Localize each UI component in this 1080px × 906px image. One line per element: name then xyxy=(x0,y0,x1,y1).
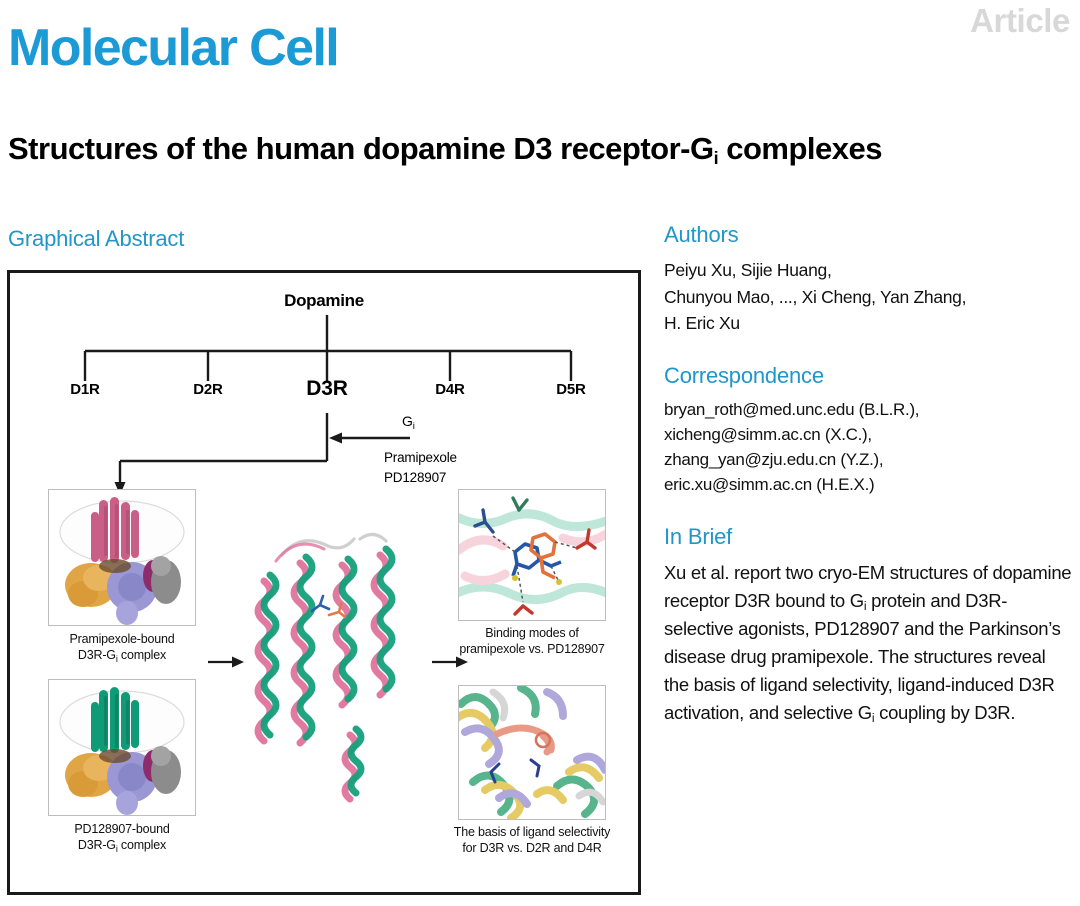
caption-pramipexole-complex: Pramipexole-bound D3R-Gi complex xyxy=(20,631,224,664)
correspondence-body: bryan_roth@med.unc.edu (B.L.R.), xicheng… xyxy=(664,398,1072,498)
panel-pd128907-complex xyxy=(48,679,196,816)
cryoem-map-pd128907 xyxy=(49,680,195,815)
caption-ligand-selectivity: The basis of ligand selectivity for D3R … xyxy=(420,824,644,857)
gi-subscript: i xyxy=(413,421,415,432)
panel-pramipexole-complex xyxy=(48,489,196,626)
correspondence-email-4[interactable]: eric.xu@simm.ac.cn (H.E.X.) xyxy=(664,475,874,494)
correspondence-email-2[interactable]: xicheng@simm.ac.cn (X.C.), xyxy=(664,425,872,444)
journal-logo: Molecular Cell xyxy=(8,22,338,74)
graphical-abstract-heading: Graphical Abstract xyxy=(8,226,184,252)
in-brief-body: Xu et al. report two cryo-EM structures … xyxy=(664,559,1072,728)
title-subscript: i xyxy=(714,148,719,168)
cryoem-map-pramipexole xyxy=(49,490,195,625)
graphical-abstract-box: Dopamine D1R D2R D3R D4R D5R Gi Pramipex… xyxy=(7,270,641,895)
panel-superposed-structures xyxy=(242,503,432,833)
correspondence-heading: Correspondence xyxy=(664,363,1072,389)
caption-line-2: for D3R vs. D2R and D4R xyxy=(462,841,601,855)
caption-line-2-sub: i xyxy=(116,844,118,854)
authors-line-2: Chunyou Mao, ..., Xi Cheng, Yan Zhang, xyxy=(664,287,966,307)
ligand-pramipexole-label: Pramipexole xyxy=(384,449,457,467)
caption-line-2-pre: D3R-G xyxy=(78,648,116,662)
caption-line-2-post: complex xyxy=(118,838,166,852)
panel-binding-modes xyxy=(458,489,606,621)
correspondence-section: Correspondence bryan_roth@med.unc.edu (B… xyxy=(664,363,1072,498)
caption-line-2-sub: i xyxy=(116,654,118,664)
gi-protein-label: Gi xyxy=(402,413,415,429)
page-title: Structures of the human dopamine D3 rece… xyxy=(8,129,1063,169)
caption-line-1: Pramipexole-bound xyxy=(70,632,175,646)
gi-letter: G xyxy=(402,413,413,429)
caption-line-2: pramipexole vs. PD128907 xyxy=(459,642,604,656)
tree-node-d1r: D1R xyxy=(55,381,115,398)
flow-arrow-left xyxy=(206,651,246,673)
authors-line-3: H. Eric Xu xyxy=(664,313,740,333)
caption-line-1: Binding modes of xyxy=(485,626,578,640)
right-column: Authors Peiyu Xu, Sijie Huang, Chunyou M… xyxy=(664,222,1072,753)
authors-line-1: Peiyu Xu, Sijie Huang, xyxy=(664,260,832,280)
authors-heading: Authors xyxy=(664,222,1072,248)
ribbon-overlay-diagram xyxy=(242,503,432,833)
caption-binding-modes: Binding modes of pramipexole vs. PD12890… xyxy=(428,625,636,658)
authors-section: Authors Peiyu Xu, Sijie Huang, Chunyou M… xyxy=(664,222,1072,337)
in-brief-section: In Brief Xu et al. report two cryo-EM st… xyxy=(664,524,1072,728)
selectivity-diagram xyxy=(459,686,605,819)
caption-line-2-post: complex xyxy=(118,648,166,662)
tree-node-d2r: D2R xyxy=(178,381,238,398)
correspondence-email-3[interactable]: zhang_yan@zju.edu.cn (Y.Z.), xyxy=(664,450,883,469)
correspondence-email-1[interactable]: bryan_roth@med.unc.edu (B.L.R.), xyxy=(664,400,919,419)
authors-body: Peiyu Xu, Sijie Huang, Chunyou Mao, ...,… xyxy=(664,257,1072,337)
tree-node-d3r: D3R xyxy=(292,377,362,401)
tree-node-d5r: D5R xyxy=(541,381,601,398)
title-text-part2: complexes xyxy=(718,131,882,166)
panel-ligand-selectivity xyxy=(458,685,606,820)
in-brief-sub-1: i xyxy=(864,599,866,613)
tree-node-d4r: D4R xyxy=(420,381,480,398)
caption-pd128907-complex: PD128907-bound D3R-Gi complex xyxy=(20,821,224,854)
article-type-tag: Article xyxy=(970,2,1070,40)
title-text-part1: Structures of the human dopamine D3 rece… xyxy=(8,131,714,166)
in-brief-heading: In Brief xyxy=(664,524,1072,550)
caption-line-1: PD128907-bound xyxy=(74,822,169,836)
caption-line-2-pre: D3R-G xyxy=(78,838,116,852)
ligand-pd128907-label: PD128907 xyxy=(384,469,446,487)
caption-line-1: The basis of ligand selectivity xyxy=(454,825,610,839)
binding-site-diagram xyxy=(459,490,605,620)
in-brief-part-3: coupling by D3R. xyxy=(874,702,1015,723)
in-brief-sub-2: i xyxy=(872,711,874,725)
